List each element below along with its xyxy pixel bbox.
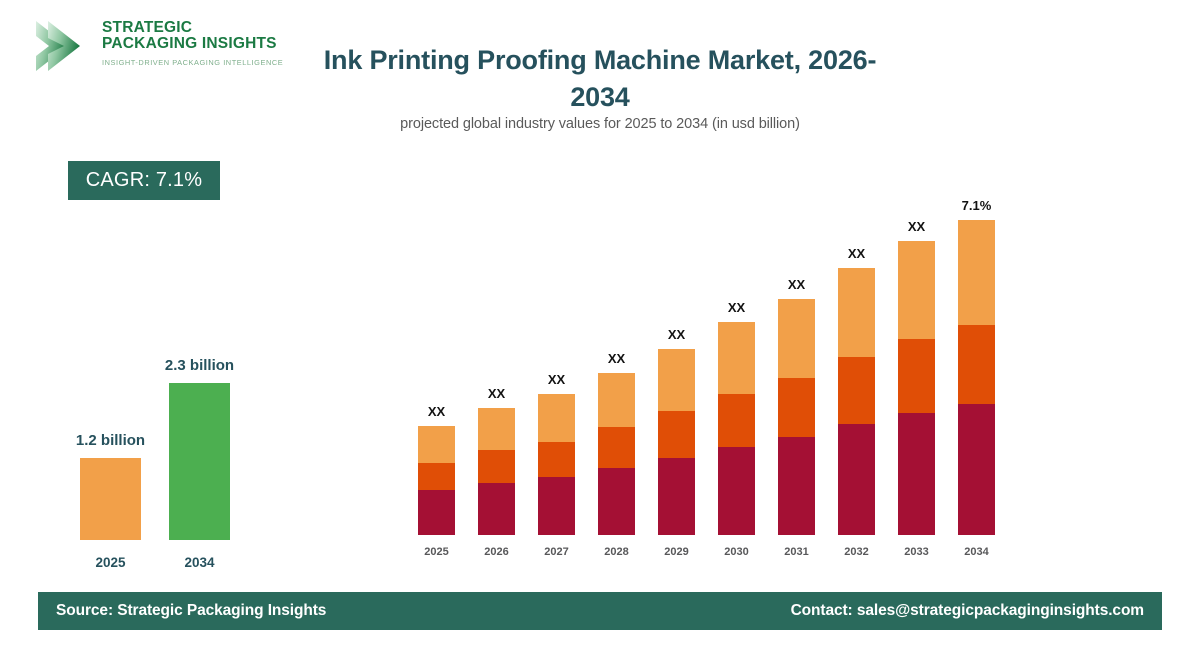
forecast-bar-segment-top bbox=[418, 426, 455, 463]
forecast-bar-year-label: 2027 bbox=[533, 546, 581, 558]
logo-line-2: PACKAGING INSIGHTS bbox=[102, 36, 283, 52]
forecast-bar-year-label: 2029 bbox=[653, 546, 701, 558]
forecast-bar-year-label: 2025 bbox=[413, 546, 461, 558]
forecast-bar-segment-middle bbox=[478, 450, 515, 482]
forecast-bar-segment-middle bbox=[958, 325, 995, 404]
forecast-bar-top-label: XX bbox=[587, 351, 647, 366]
footer-source: Source: Strategic Packaging Insights bbox=[56, 602, 326, 620]
forecast-bar-year-label: 2031 bbox=[773, 546, 821, 558]
forecast-bar-year-label: 2030 bbox=[713, 546, 761, 558]
forecast-bar-segment-middle bbox=[898, 339, 935, 412]
forecast-bar-segment-middle bbox=[718, 394, 755, 447]
forecast-bar-stack bbox=[598, 373, 635, 535]
logo-tagline: INSIGHT-DRIVEN PACKAGING INTELLIGENCE bbox=[102, 58, 283, 67]
forecast-bar-segment-top bbox=[838, 268, 875, 357]
page-title: Ink Printing Proofing Machine Market, 20… bbox=[300, 42, 900, 116]
forecast-bar-top-label: XX bbox=[647, 327, 707, 342]
forecast-bar-segment-bottom bbox=[538, 477, 575, 535]
forecast-bar-segment-middle bbox=[418, 463, 455, 491]
forecast-bar-segment-middle bbox=[838, 357, 875, 424]
forecast-bar-segment-bottom bbox=[898, 413, 935, 535]
page-subtitle: projected global industry values for 202… bbox=[300, 116, 900, 132]
forecast-bar-segment-middle bbox=[778, 378, 815, 437]
forecast-bar-year-label: 2032 bbox=[833, 546, 881, 558]
comparison-bar-group bbox=[169, 383, 230, 540]
forecast-bar-segment-bottom bbox=[958, 404, 995, 535]
forecast-bar-segment-bottom bbox=[778, 437, 815, 535]
endpoint-comparison-chart: 1.2 billion20252.3 billion2034 bbox=[40, 300, 300, 570]
forecast-bar-year-label: 2028 bbox=[593, 546, 641, 558]
forecast-bar-stack bbox=[838, 268, 875, 535]
brand-logo: STRATEGIC PACKAGING INSIGHTS INSIGHT-DRI… bbox=[32, 16, 247, 78]
comparison-bar bbox=[80, 458, 141, 540]
forecast-bar-segment-top bbox=[958, 220, 995, 325]
forecast-bar-stack bbox=[898, 241, 935, 535]
forecast-bar-stack bbox=[478, 408, 515, 535]
forecast-bar-top-label: 7.1% bbox=[947, 198, 1007, 213]
forecast-bar-top-label: XX bbox=[527, 372, 587, 387]
forecast-bar-top-label: XX bbox=[407, 404, 467, 419]
forecast-bar-top-label: XX bbox=[827, 246, 887, 261]
forecast-bar-segment-top bbox=[598, 373, 635, 428]
chevron-right-icon bbox=[32, 18, 98, 74]
forecast-bar-top-label: XX bbox=[467, 386, 527, 401]
forecast-bar-year-label: 2034 bbox=[953, 546, 1001, 558]
comparison-bar-year-label: 2025 bbox=[80, 555, 141, 570]
forecast-bar-stack bbox=[658, 349, 695, 535]
forecast-bar-segment-top bbox=[658, 349, 695, 411]
forecast-bar-segment-bottom bbox=[658, 458, 695, 535]
forecast-bar-segment-top bbox=[538, 394, 575, 442]
cagr-badge: CAGR: 7.1% bbox=[68, 161, 220, 200]
forecast-bar-segment-bottom bbox=[418, 490, 455, 535]
forecast-bar-stack bbox=[778, 299, 815, 535]
forecast-bar-top-label: XX bbox=[767, 277, 827, 292]
forecast-bar-segment-bottom bbox=[598, 468, 635, 535]
forecast-bar-stack bbox=[958, 220, 995, 535]
forecast-bar-top-label: XX bbox=[887, 219, 947, 234]
forecast-bar-segment-top bbox=[898, 241, 935, 339]
forecast-bar-year-label: 2033 bbox=[893, 546, 941, 558]
forecast-bar-segment-top bbox=[778, 299, 815, 378]
comparison-bar-group bbox=[80, 458, 141, 540]
yearly-stacked-forecast-chart: XX2025XX2026XX2027XX2028XX2029XX2030XX20… bbox=[400, 190, 1020, 560]
forecast-bar-stack bbox=[418, 426, 455, 535]
cagr-badge-label: CAGR: 7.1% bbox=[86, 169, 202, 192]
footer-bar: Source: Strategic Packaging Insights Con… bbox=[38, 592, 1162, 630]
logo-wordmark: STRATEGIC PACKAGING INSIGHTS INSIGHT-DRI… bbox=[102, 20, 283, 67]
footer-contact: Contact: sales@strategicpackaginginsight… bbox=[791, 602, 1144, 620]
forecast-bar-stack bbox=[718, 322, 755, 535]
forecast-bar-segment-middle bbox=[598, 427, 635, 468]
forecast-bar-year-label: 2026 bbox=[473, 546, 521, 558]
forecast-bar-segment-bottom bbox=[718, 447, 755, 535]
logo-line-1: STRATEGIC bbox=[102, 20, 283, 36]
forecast-bar-segment-top bbox=[718, 322, 755, 393]
forecast-bar-segment-middle bbox=[658, 411, 695, 458]
comparison-bar-year-label: 2034 bbox=[169, 555, 230, 570]
comparison-bar bbox=[169, 383, 230, 540]
forecast-bar-top-label: XX bbox=[707, 300, 767, 315]
comparison-bar-value-label: 2.3 billion bbox=[115, 357, 285, 374]
forecast-bar-segment-top bbox=[478, 408, 515, 450]
forecast-bar-segment-bottom bbox=[478, 483, 515, 535]
forecast-bar-stack bbox=[538, 394, 575, 535]
forecast-bar-segment-bottom bbox=[838, 424, 875, 535]
forecast-bar-segment-middle bbox=[538, 442, 575, 478]
